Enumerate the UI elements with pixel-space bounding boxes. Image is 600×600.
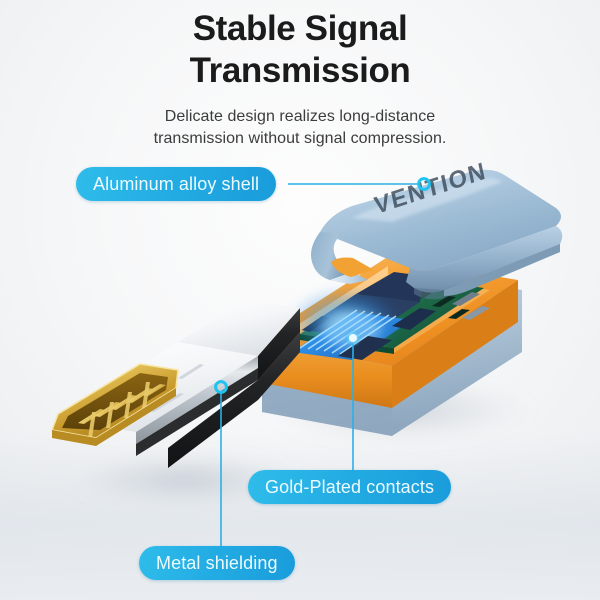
subtitle-line-2: transmission without signal compression. [0,128,600,150]
callout-label: Aluminum alloy shell [93,174,259,195]
title-line-1: Stable Signal [0,8,600,50]
heading-block: Stable Signal Transmission Delicate desi… [0,8,600,150]
callout-label: Gold-Plated contacts [265,477,434,498]
subtitle-block: Delicate design realizes long-distance t… [0,106,600,150]
callout-gold-plated-contacts[interactable]: Gold-Plated contacts [248,470,451,504]
callout-aluminum-alloy-shell[interactable]: Aluminum alloy shell [76,167,276,201]
callout-metal-shielding[interactable]: Metal shielding [139,546,295,580]
page-title: Stable Signal Transmission [0,8,600,92]
hdmi-male-plug [52,300,300,468]
title-line-2: Transmission [0,50,600,92]
callout-label: Metal shielding [156,553,278,574]
subtitle-line-1: Delicate design realizes long-distance [0,106,600,128]
aluminum-alloy-shell: VENTION [311,157,562,299]
product-feature-graphic: Stable Signal Transmission Delicate desi… [0,0,600,600]
